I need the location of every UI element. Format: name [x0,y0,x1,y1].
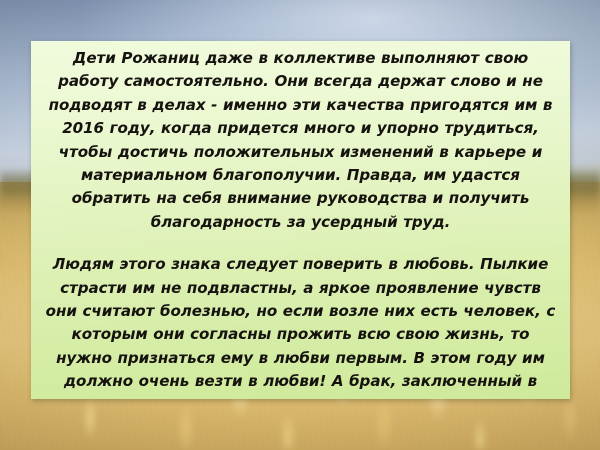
paragraph-career: Дети Рожаниц даже в коллективе выполняют… [45,47,556,234]
paragraph-love: Людям этого знака следует поверить в люб… [45,253,556,399]
text-panel: Дети Рожаниц даже в коллективе выполняют… [31,41,570,399]
screenshot-stage: Дети Рожаниц даже в коллективе выполняют… [0,0,600,450]
